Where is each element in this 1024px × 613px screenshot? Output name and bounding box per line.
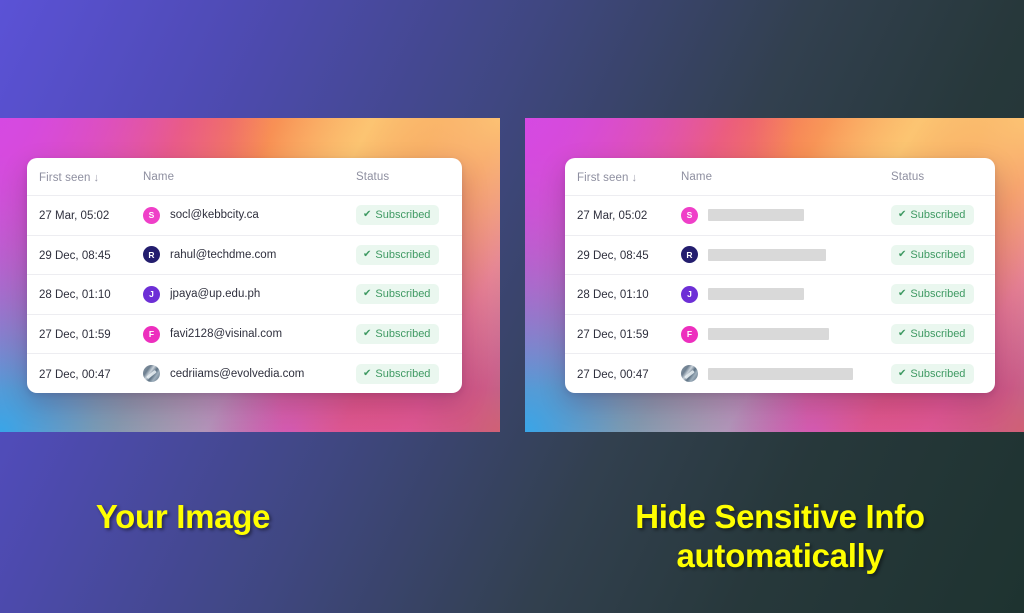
header-label-name: Name (681, 171, 712, 183)
cell-first-seen: 29 Dec, 08:45 (39, 250, 111, 262)
redaction-bar (708, 368, 853, 380)
table-row[interactable]: 27 Mar, 05:02 S ✔Subscribed (565, 195, 995, 235)
avatar (143, 365, 160, 382)
cell-email: cedriiams@evolvedia.com (170, 368, 304, 380)
check-icon: ✔ (898, 369, 906, 379)
table-row[interactable]: 27 Dec, 00:47 cedriiams@evolvedia.com ✔S… (27, 353, 462, 393)
status-badge: ✔Subscribed (356, 364, 439, 384)
table-header-row: First seen↓ Name Status (27, 158, 462, 195)
avatar (681, 365, 698, 382)
check-icon: ✔ (898, 329, 906, 339)
status-badge: ✔Subscribed (356, 205, 439, 225)
cell-first-seen: 27 Dec, 00:47 (39, 369, 111, 381)
subscriber-table-card-original: First seen↓ Name Status 27 Mar, 05:02 S … (27, 158, 462, 393)
table-row[interactable]: 29 Dec, 08:45 R rahul@techdme.com ✔Subsc… (27, 235, 462, 275)
table-row[interactable]: 27 Dec, 01:59 F favi2128@visinal.com ✔Su… (27, 314, 462, 354)
check-icon: ✔ (363, 369, 371, 379)
status-badge: ✔Subscribed (356, 245, 439, 265)
sort-arrow-down-icon[interactable]: ↓ (94, 172, 100, 184)
status-badge-label: Subscribed (375, 328, 430, 340)
subscriber-table-card-redacted: First seen↓ Name Status 27 Mar, 05:02 S … (565, 158, 995, 393)
header-label-first-seen: First seen (39, 172, 91, 184)
status-badge-label: Subscribed (375, 209, 430, 221)
cell-first-seen: 27 Mar, 05:02 (577, 210, 647, 222)
status-badge: ✔Subscribed (356, 324, 439, 344)
status-badge-label: Subscribed (910, 288, 965, 300)
redaction-bar (708, 288, 804, 300)
status-badge-label: Subscribed (375, 288, 430, 300)
cell-email: jpaya@up.edu.ph (170, 288, 260, 300)
redaction-bar (708, 209, 804, 221)
panel-original: First seen↓ Name Status 27 Mar, 05:02 S … (0, 118, 500, 432)
table-row[interactable]: 27 Dec, 01:59 F ✔Subscribed (565, 314, 995, 354)
header-label-name: Name (143, 171, 174, 183)
cell-first-seen: 27 Mar, 05:02 (39, 210, 109, 222)
status-badge: ✔Subscribed (891, 205, 974, 225)
status-badge: ✔Subscribed (891, 245, 974, 265)
status-badge: ✔Subscribed (891, 324, 974, 344)
check-icon: ✔ (363, 250, 371, 260)
cell-first-seen: 29 Dec, 08:45 (577, 250, 649, 262)
header-label-first-seen: First seen (577, 172, 629, 184)
cell-email: favi2128@visinal.com (170, 328, 282, 340)
check-icon: ✔ (363, 329, 371, 339)
check-icon: ✔ (363, 210, 371, 220)
header-label-status: Status (356, 171, 389, 183)
sort-arrow-down-icon[interactable]: ↓ (632, 172, 638, 184)
status-badge-label: Subscribed (910, 249, 965, 261)
status-badge-label: Subscribed (910, 209, 965, 221)
table-row[interactable]: 28 Dec, 01:10 J ✔Subscribed (565, 274, 995, 314)
status-badge-label: Subscribed (375, 368, 430, 380)
table-row[interactable]: 28 Dec, 01:10 J jpaya@up.edu.ph ✔Subscri… (27, 274, 462, 314)
avatar: S (681, 207, 698, 224)
status-badge: ✔Subscribed (891, 284, 974, 304)
avatar: S (143, 207, 160, 224)
cell-first-seen: 27 Dec, 01:59 (39, 329, 111, 341)
redaction-bar (708, 249, 826, 261)
caption-original: Your Image (0, 498, 366, 537)
avatar: F (681, 326, 698, 343)
redaction-bar (708, 328, 829, 340)
cell-first-seen: 28 Dec, 01:10 (577, 289, 649, 301)
cell-first-seen: 27 Dec, 00:47 (577, 369, 649, 381)
avatar: J (143, 286, 160, 303)
check-icon: ✔ (898, 250, 906, 260)
header-cell-status[interactable]: Status (356, 171, 462, 183)
cell-first-seen: 27 Dec, 01:59 (577, 329, 649, 341)
status-badge-label: Subscribed (375, 249, 430, 261)
table-header-row: First seen↓ Name Status (565, 158, 995, 195)
header-cell-first-seen[interactable]: First seen↓ (577, 168, 681, 186)
cell-email: rahul@techdme.com (170, 249, 276, 261)
avatar: R (681, 246, 698, 263)
check-icon: ✔ (898, 289, 906, 299)
table-row[interactable]: 27 Dec, 00:47 ✔Subscribed (565, 353, 995, 393)
caption-redacted-line2: automatically (525, 537, 1024, 576)
caption-redacted: Hide Sensitive Info automatically (525, 498, 1024, 575)
status-badge: ✔Subscribed (891, 364, 974, 384)
cell-email: socl@kebbcity.ca (170, 209, 259, 221)
header-cell-status[interactable]: Status (891, 171, 995, 183)
avatar: F (143, 326, 160, 343)
avatar: R (143, 246, 160, 263)
check-icon: ✔ (363, 289, 371, 299)
status-badge: ✔Subscribed (356, 284, 439, 304)
avatar: J (681, 286, 698, 303)
status-badge-label: Subscribed (910, 328, 965, 340)
cell-first-seen: 28 Dec, 01:10 (39, 289, 111, 301)
table-row[interactable]: 27 Mar, 05:02 S socl@kebbcity.ca ✔Subscr… (27, 195, 462, 235)
header-label-status: Status (891, 171, 924, 183)
header-cell-name[interactable]: Name (681, 171, 891, 183)
check-icon: ✔ (898, 210, 906, 220)
header-cell-first-seen[interactable]: First seen↓ (39, 168, 143, 186)
table-row[interactable]: 29 Dec, 08:45 R ✔Subscribed (565, 235, 995, 275)
panel-redacted: First seen↓ Name Status 27 Mar, 05:02 S … (525, 118, 1024, 432)
caption-redacted-line1: Hide Sensitive Info (525, 498, 1024, 537)
status-badge-label: Subscribed (910, 368, 965, 380)
header-cell-name[interactable]: Name (143, 171, 356, 183)
